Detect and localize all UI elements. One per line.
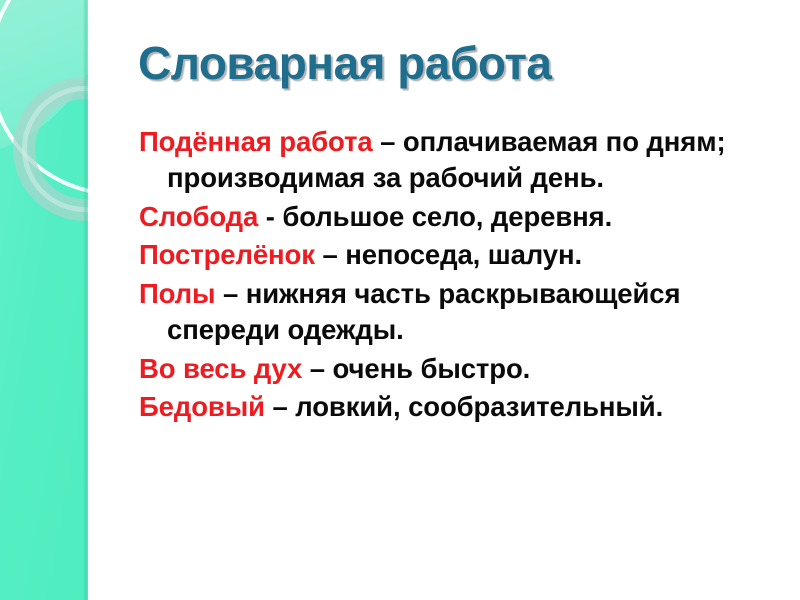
vocabulary-term: Полы	[139, 278, 215, 309]
band-edge-shading	[83, 0, 88, 600]
vocabulary-list: Подённая работа – оплачиваемая по дням; …	[139, 124, 784, 428]
vocabulary-separator: –	[302, 353, 332, 384]
page-title: Словарная работа	[138, 38, 778, 90]
vocabulary-term: Во весь дух	[139, 353, 302, 384]
vocabulary-separator: –	[315, 239, 345, 270]
list-item: Подённая работа – оплачиваемая по дням; …	[139, 124, 784, 196]
vocabulary-definition: непоседа, шалун.	[345, 239, 582, 270]
left-decorative-band	[0, 0, 88, 600]
vocabulary-separator: –	[265, 391, 295, 422]
vocabulary-definition: очень быстро.	[333, 353, 531, 384]
vocabulary-separator: -	[258, 201, 282, 232]
vocabulary-term: Пострелёнок	[139, 239, 315, 270]
vocabulary-term: Бедовый	[139, 391, 265, 422]
list-item: Пострелёнок – непоседа, шалун.	[139, 237, 784, 273]
slide-canvas: Словарная работа Подённая работа – оплач…	[0, 0, 800, 600]
list-item: Во весь дух – очень быстро.	[139, 351, 784, 387]
vocabulary-definition: большое село, деревня.	[282, 201, 612, 232]
vocabulary-term: Слобода	[139, 201, 258, 232]
list-item: Слобода - большое село, деревня.	[139, 199, 784, 235]
vocabulary-term: Подённая работа	[139, 126, 373, 157]
vocabulary-separator: –	[373, 126, 403, 157]
list-item: Полы – нижняя часть раскрывающейся спере…	[139, 276, 784, 348]
vocabulary-separator: –	[215, 278, 245, 309]
list-item: Бедовый – ловкий, сообразительный.	[139, 389, 784, 425]
vocabulary-definition: ловкий, сообразительный.	[295, 391, 663, 422]
